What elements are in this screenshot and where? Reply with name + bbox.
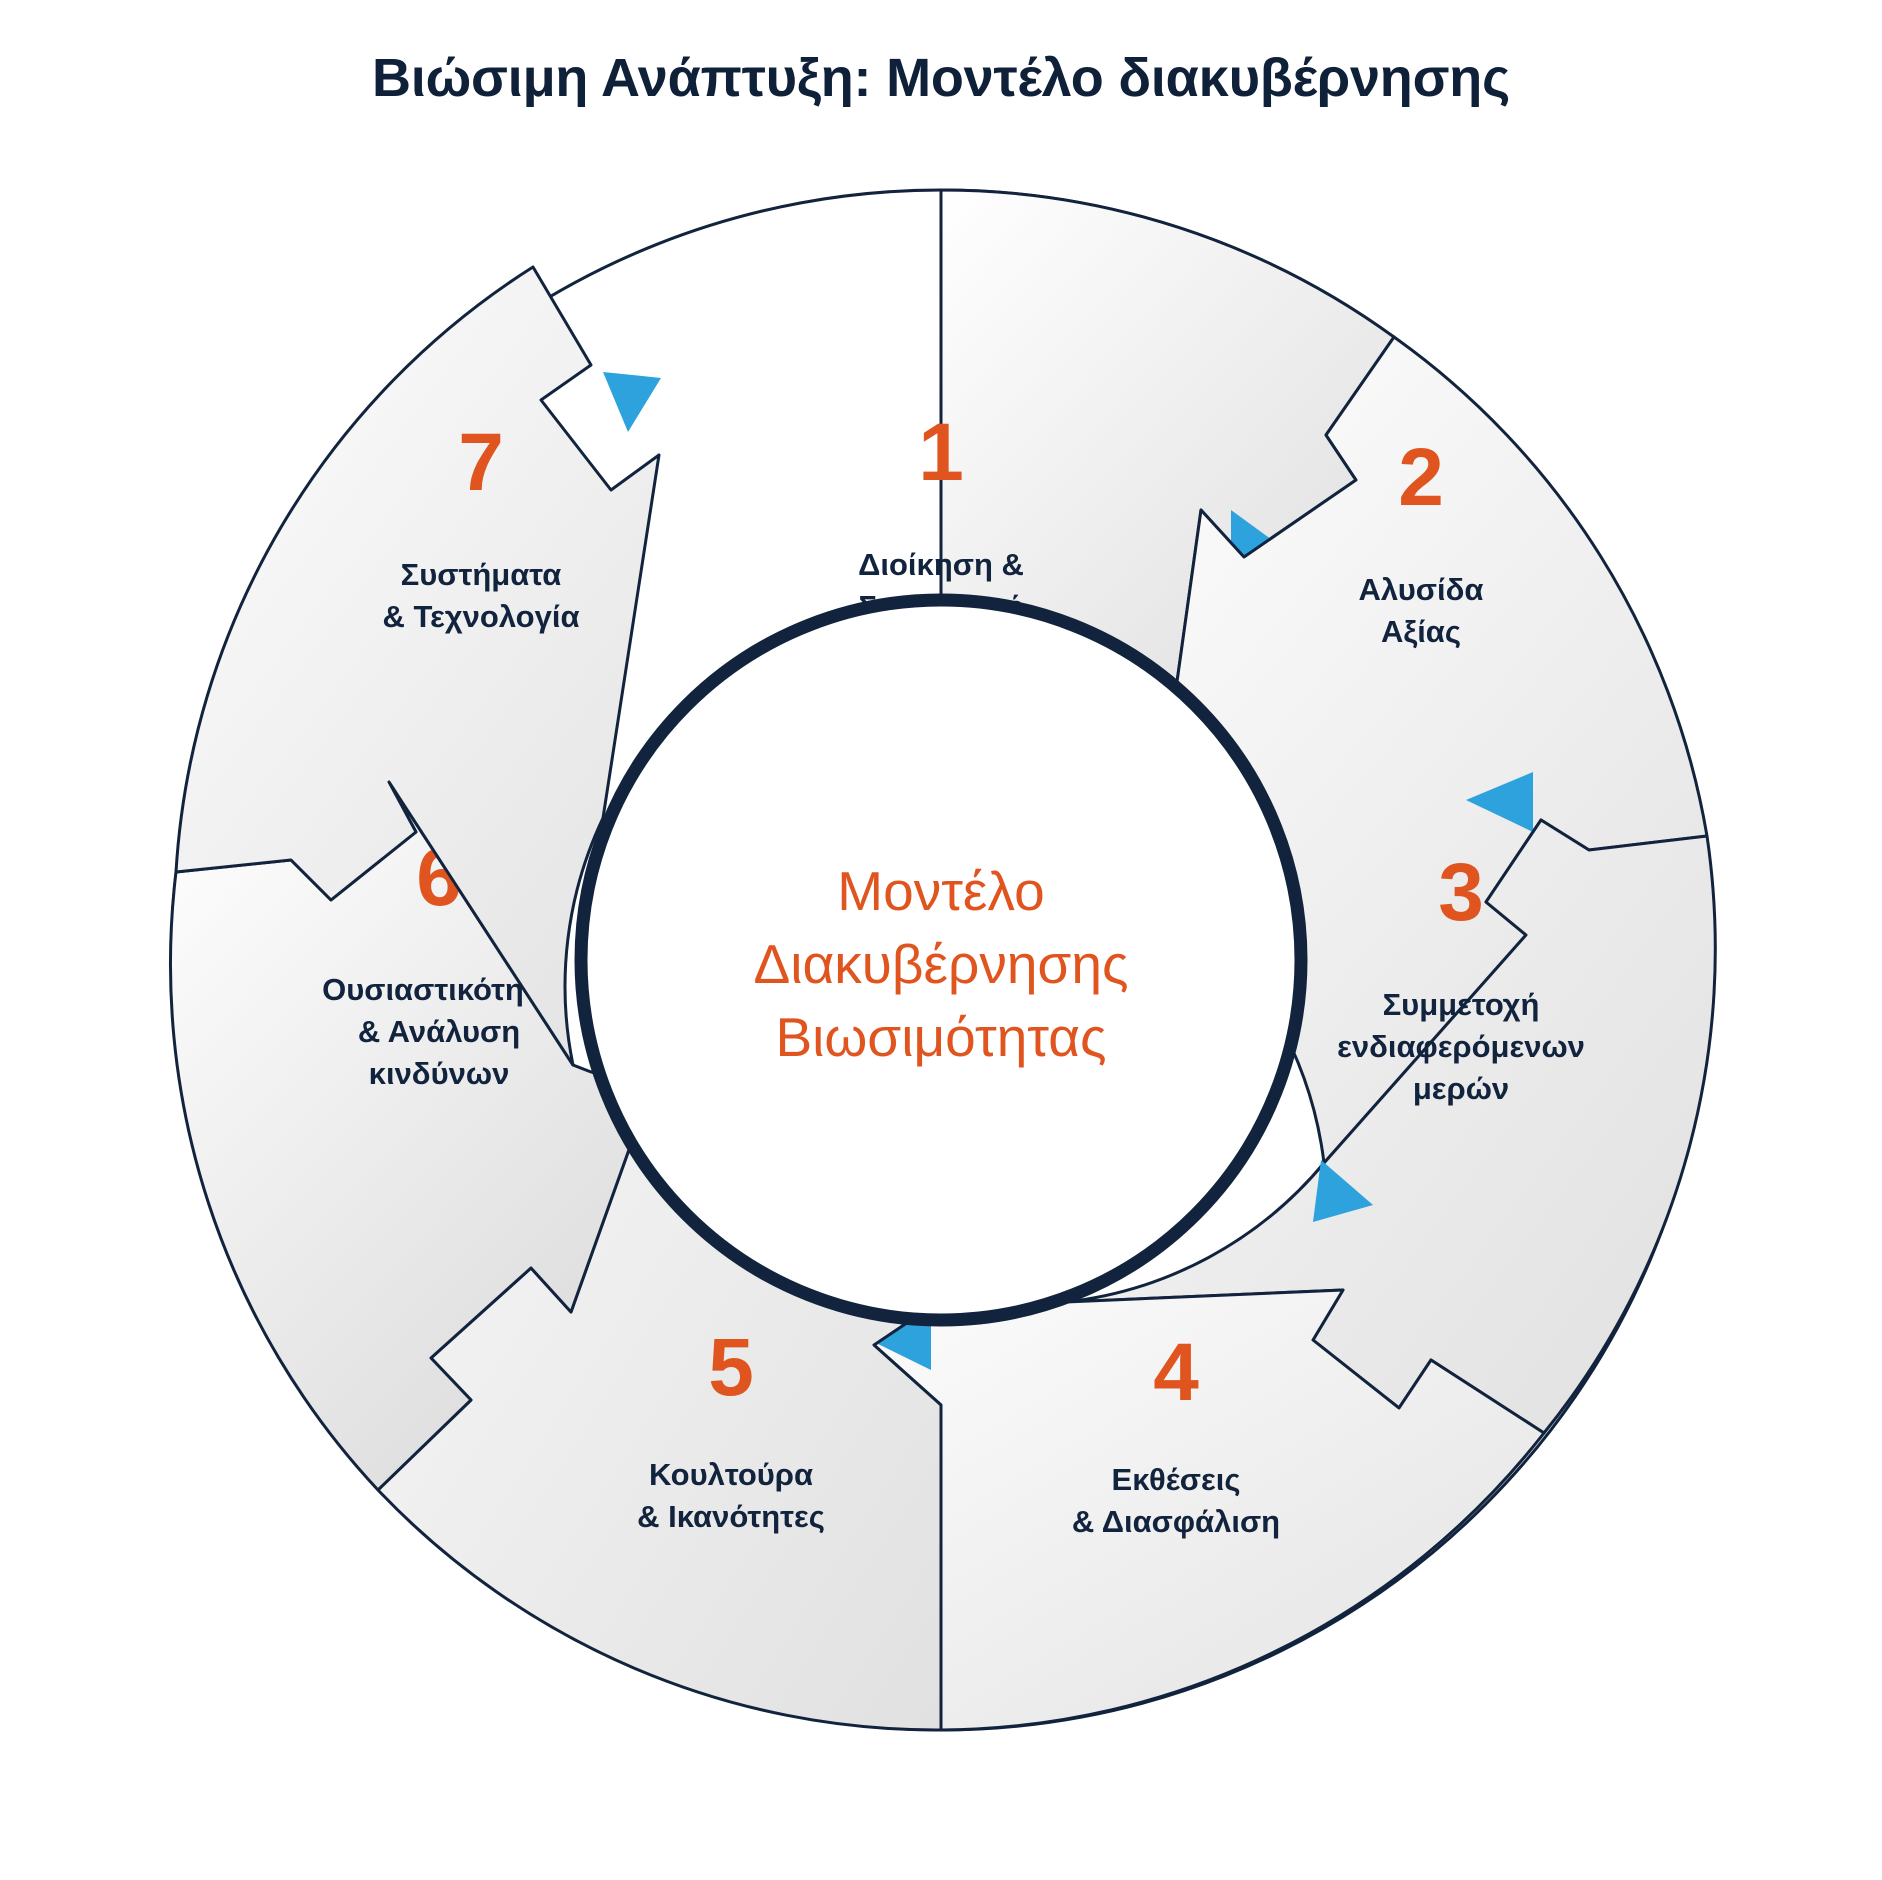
segment-3-number: 3 [1438,847,1484,938]
segment-3-label-line1: Συμμετοχή [1383,987,1540,1022]
segment-2-label-line2: Αξίας [1381,614,1461,649]
segment-2-number: 2 [1398,432,1444,523]
segment-7-label-line1: Συστήματα [401,557,562,592]
segment-7-label-line2: & Τεχνολογία [382,599,579,634]
center-title-line2: Διακυβέρνησης [754,933,1129,995]
segment-3-label-line2: ενδιαφερόμενων [1337,1029,1585,1064]
center-title-line3: Βιωσιμότητας [775,1006,1106,1068]
segment-4-number: 4 [1153,1327,1199,1418]
page-title: Βιώσιμη Ανάπτυξη: Μοντέλο διακυβέρνησης [0,46,1882,111]
segment-5-label-line1: Κουλτούρα [649,1457,813,1492]
segment-6-label-line2: & Ανάλυση [358,1014,520,1049]
wheel-svg: 1 Διοίκηση & Στρατηγική 2 Αλυσίδα Αξίας … [141,160,1741,1760]
center-title-line1: Μοντέλο [837,860,1044,922]
segment-5-number: 5 [708,1322,754,1413]
segment-4-label-line1: Εκθέσεις [1112,1462,1241,1497]
cycle-wheel: 1 Διοίκηση & Στρατηγική 2 Αλυσίδα Αξίας … [141,160,1741,1760]
segment-2-label-line1: Αλυσίδα [1359,572,1484,607]
segment-5-label-line2: & Ικανότητες [637,1499,825,1534]
segment-7-number: 7 [458,417,504,508]
segment-1-label-line1: Διοίκηση & [858,547,1024,582]
segment-6-label-line3: κινδύνων [369,1056,510,1091]
segment-1-number: 1 [918,407,964,498]
segment-4-label-line2: & Διασφάλιση [1072,1504,1280,1539]
infographic-page: Βιώσιμη Ανάπτυξη: Μοντέλο διακυβέρνησης [0,0,1882,1880]
segment-3-label-line3: μερών [1413,1071,1509,1106]
